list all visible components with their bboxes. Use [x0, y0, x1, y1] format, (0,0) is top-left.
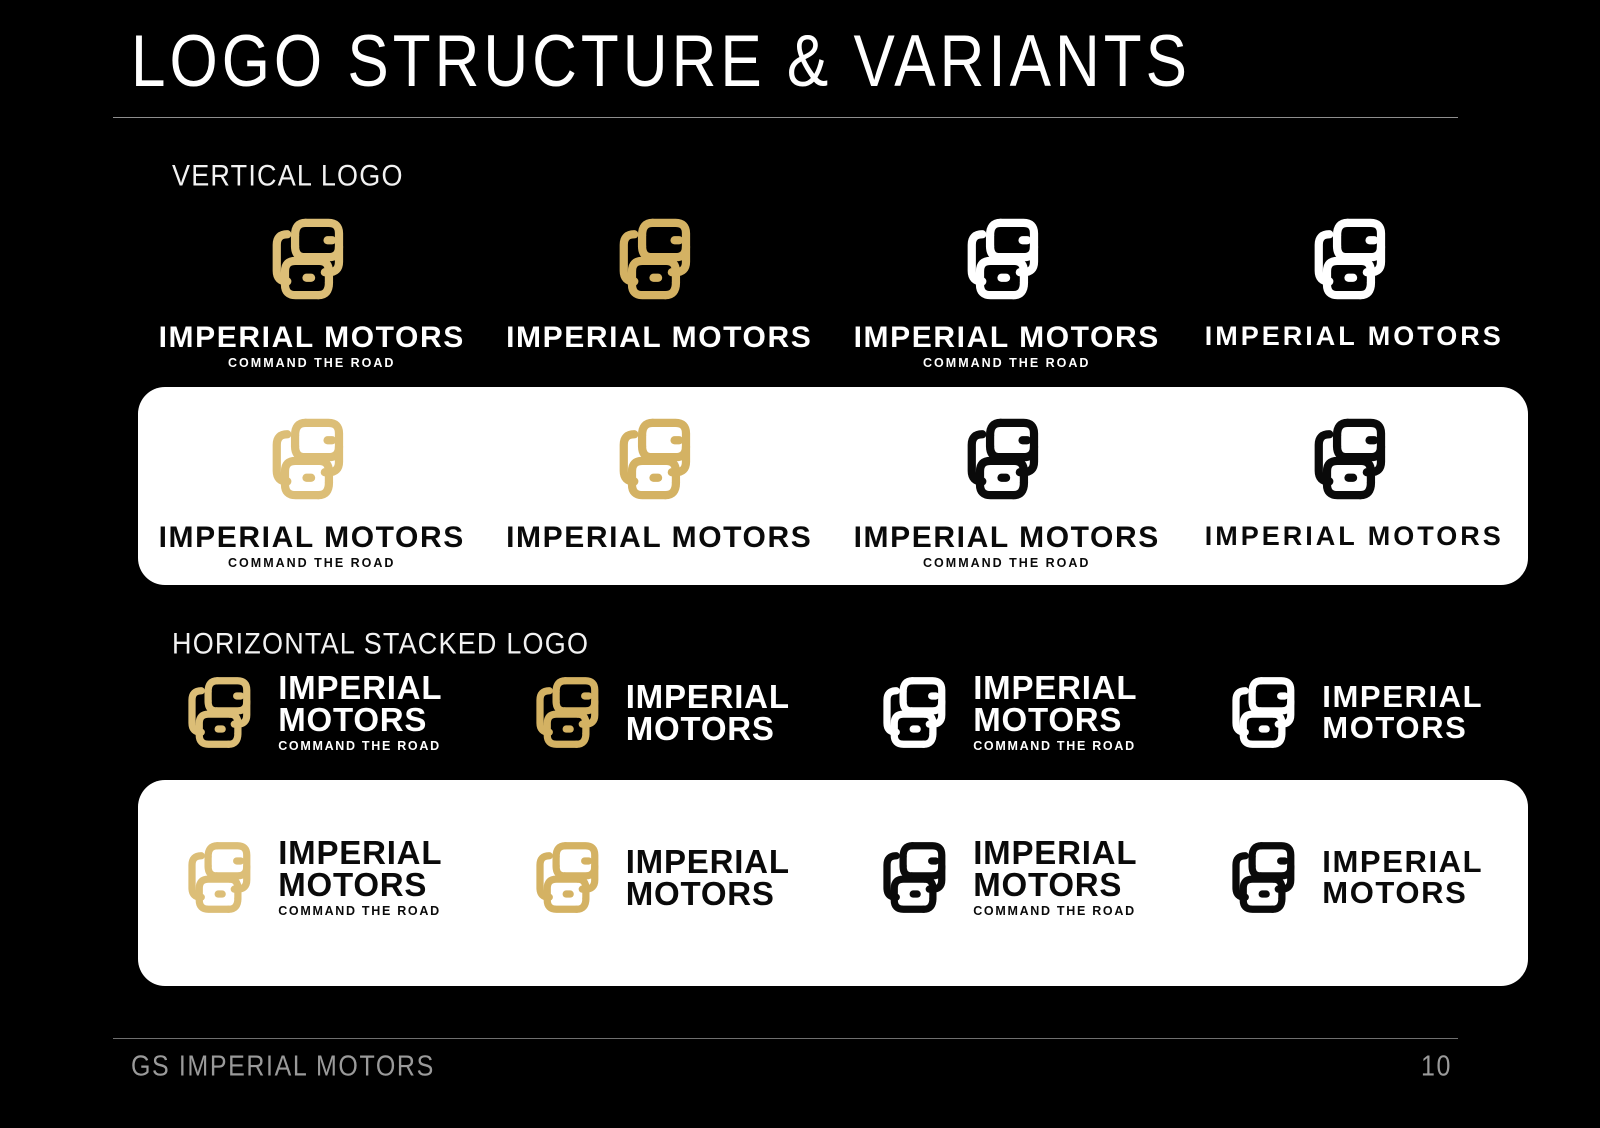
- gs-monogram-icon: [264, 405, 360, 513]
- logo-tagline: COMMAND THE ROAD: [228, 556, 395, 570]
- logo-wordmark-line1: IMPERIAL: [278, 672, 442, 704]
- logo-variant-gold-deep-no-tagline[interactable]: IMPERIAL MOTORS: [486, 205, 834, 372]
- logo-variant-white-with-tagline[interactable]: IMPERIAL MOTORS COMMAND THE ROAD: [833, 205, 1181, 372]
- logo-variant-gold-light-with-tagline[interactable]: IMPERIAL MOTORS COMMAND THE ROAD: [138, 830, 486, 925]
- logo-wordmark-line2: MOTORS: [278, 869, 442, 901]
- vertical-logo-row-dark: IMPERIAL MOTORS COMMAND THE ROAD: [138, 205, 1528, 372]
- logo-variant-white-no-tagline[interactable]: IMPERIAL MOTORS: [1181, 205, 1529, 372]
- wordmark-vertical: IMPERIAL MOTORS: [506, 323, 812, 354]
- section-label-vertical: VERTICAL LOGO: [172, 159, 404, 193]
- logo-wordmark: IMPERIAL MOTORS: [854, 521, 1160, 554]
- gs-monogram-icon: [181, 665, 265, 760]
- logo-variant-gold-deep-no-tagline[interactable]: IMPERIAL MOTORS: [486, 405, 834, 572]
- logo-variant-black-no-tagline[interactable]: IMPERIAL MOTORS: [1181, 830, 1529, 925]
- logo-wordmark-line1: IMPERIAL: [1322, 682, 1483, 712]
- logo-wordmark: IMPERIAL MOTORS: [159, 521, 465, 554]
- wordmark-stacked: IMPERIAL MOTORS: [1322, 682, 1483, 742]
- gs-monogram-icon: [959, 205, 1055, 313]
- gs-monogram-icon: [611, 405, 707, 513]
- wordmark-stacked: IMPERIAL MOTORS: [626, 681, 790, 745]
- logo-variant-black-no-tagline[interactable]: IMPERIAL MOTORS: [1181, 405, 1529, 572]
- header-divider: [113, 117, 1458, 118]
- logo-variant-gold-light-with-tagline[interactable]: IMPERIAL MOTORS COMMAND THE ROAD: [138, 205, 486, 372]
- section-label-horizontal: HORIZONTAL STACKED LOGO: [172, 627, 589, 661]
- logo-wordmark-line2: MOTORS: [626, 878, 790, 910]
- wordmark-stacked: IMPERIAL MOTORS COMMAND THE ROAD: [973, 837, 1137, 918]
- logo-tagline: COMMAND THE ROAD: [973, 904, 1137, 918]
- logo-wordmark-line1: IMPERIAL: [1322, 847, 1483, 877]
- vertical-logo-row-light: IMPERIAL MOTORS COMMAND THE ROAD: [138, 405, 1528, 572]
- wordmark-vertical: IMPERIAL MOTORS COMMAND THE ROAD: [138, 523, 486, 572]
- logo-wordmark: IMPERIAL MOTORS: [1205, 521, 1504, 551]
- logo-wordmark-line1: IMPERIAL: [973, 672, 1137, 704]
- brand-guidelines-page: { "page": { "title": "LOGO STRUCTURE & V…: [0, 0, 1600, 1128]
- page-title: LOGO STRUCTURE & VARIANTS: [131, 26, 1191, 99]
- logo-variant-white-with-tagline[interactable]: IMPERIAL MOTORS COMMAND THE ROAD: [833, 665, 1181, 760]
- logo-tagline: COMMAND THE ROAD: [923, 556, 1090, 570]
- logo-variant-gold-deep-no-tagline[interactable]: IMPERIAL MOTORS: [486, 665, 834, 760]
- footer-page-number: 10: [1421, 1050, 1452, 1083]
- wordmark-stacked: IMPERIAL MOTORS: [626, 846, 790, 910]
- wordmark-vertical: IMPERIAL MOTORS COMMAND THE ROAD: [833, 323, 1181, 372]
- gs-monogram-icon: [1306, 405, 1402, 513]
- logo-variant-gold-deep-no-tagline[interactable]: IMPERIAL MOTORS: [486, 830, 834, 925]
- logo-wordmark-line1: IMPERIAL: [973, 837, 1137, 869]
- logo-tagline: COMMAND THE ROAD: [228, 356, 395, 370]
- gs-monogram-icon: [959, 405, 1055, 513]
- logo-wordmark: IMPERIAL MOTORS: [854, 321, 1160, 354]
- wordmark-stacked: IMPERIAL MOTORS COMMAND THE ROAD: [973, 672, 1137, 753]
- logo-variant-white-no-tagline[interactable]: IMPERIAL MOTORS: [1181, 665, 1529, 760]
- logo-wordmark-line2: MOTORS: [1322, 878, 1483, 908]
- logo-wordmark: IMPERIAL MOTORS: [506, 321, 812, 354]
- logo-variant-black-with-tagline[interactable]: IMPERIAL MOTORS COMMAND THE ROAD: [833, 830, 1181, 925]
- logo-tagline: COMMAND THE ROAD: [278, 739, 442, 753]
- gs-monogram-icon: [1225, 830, 1309, 925]
- horizontal-logo-row-light: IMPERIAL MOTORS COMMAND THE ROAD: [138, 830, 1528, 925]
- wordmark-vertical: IMPERIAL MOTORS: [1205, 323, 1504, 351]
- gs-monogram-icon: [529, 665, 613, 760]
- logo-wordmark-line2: MOTORS: [973, 704, 1137, 736]
- logo-wordmark-line2: MOTORS: [278, 704, 442, 736]
- gs-monogram-icon: [1225, 665, 1309, 760]
- logo-wordmark-line1: IMPERIAL: [626, 681, 790, 713]
- logo-wordmark-line1: IMPERIAL: [278, 837, 442, 869]
- logo-wordmark-line1: IMPERIAL: [626, 846, 790, 878]
- wordmark-stacked: IMPERIAL MOTORS COMMAND THE ROAD: [278, 672, 442, 753]
- footer-brand: GS IMPERIAL MOTORS: [131, 1050, 435, 1083]
- gs-monogram-icon: [1306, 205, 1402, 313]
- gs-monogram-icon: [181, 830, 265, 925]
- logo-wordmark: IMPERIAL MOTORS: [159, 321, 465, 354]
- logo-tagline: COMMAND THE ROAD: [973, 739, 1137, 753]
- footer-divider: [113, 1038, 1458, 1039]
- logo-variant-gold-light-with-tagline[interactable]: IMPERIAL MOTORS COMMAND THE ROAD: [138, 405, 486, 572]
- wordmark-stacked: IMPERIAL MOTORS COMMAND THE ROAD: [278, 837, 442, 918]
- logo-wordmark-line2: MOTORS: [973, 869, 1137, 901]
- wordmark-vertical: IMPERIAL MOTORS: [506, 523, 812, 554]
- wordmark-vertical: IMPERIAL MOTORS COMMAND THE ROAD: [138, 323, 486, 372]
- logo-variant-gold-light-with-tagline[interactable]: IMPERIAL MOTORS COMMAND THE ROAD: [138, 665, 486, 760]
- gs-monogram-icon: [611, 205, 707, 313]
- horizontal-logo-row-dark: IMPERIAL MOTORS COMMAND THE ROAD: [138, 665, 1528, 760]
- gs-monogram-icon: [876, 665, 960, 760]
- wordmark-vertical: IMPERIAL MOTORS: [1205, 523, 1504, 551]
- logo-wordmark-line2: MOTORS: [626, 713, 790, 745]
- logo-variant-black-with-tagline[interactable]: IMPERIAL MOTORS COMMAND THE ROAD: [833, 405, 1181, 572]
- wordmark-vertical: IMPERIAL MOTORS COMMAND THE ROAD: [833, 523, 1181, 572]
- logo-wordmark-line2: MOTORS: [1322, 713, 1483, 743]
- gs-monogram-icon: [264, 205, 360, 313]
- gs-monogram-icon: [529, 830, 613, 925]
- logo-tagline: COMMAND THE ROAD: [923, 356, 1090, 370]
- wordmark-stacked: IMPERIAL MOTORS: [1322, 847, 1483, 907]
- logo-wordmark: IMPERIAL MOTORS: [1205, 321, 1504, 351]
- logo-wordmark: IMPERIAL MOTORS: [506, 521, 812, 554]
- logo-tagline: COMMAND THE ROAD: [278, 904, 442, 918]
- gs-monogram-icon: [876, 830, 960, 925]
